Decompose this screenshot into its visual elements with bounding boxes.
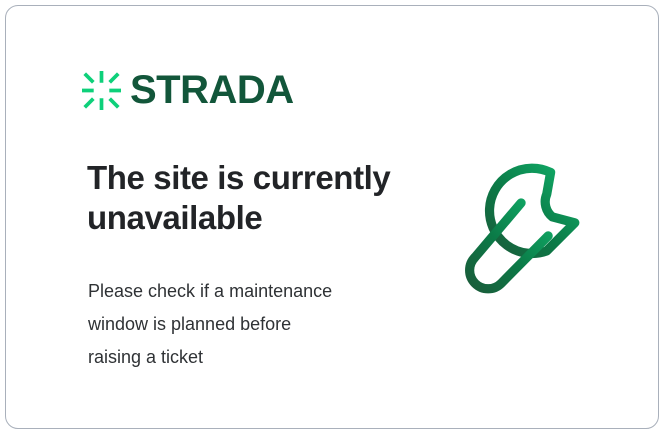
brand-wordmark: STRADA (130, 70, 294, 110)
brand-logo: STRADA (82, 70, 294, 110)
wrench-icon (461, 158, 616, 306)
description-line: window is planned before (88, 308, 398, 341)
status-card: STRADA The site is currently unavailable… (5, 5, 659, 429)
error-page: STRADA The site is currently unavailable… (0, 0, 666, 436)
description-line: raising a ticket (88, 341, 398, 374)
description-line: Please check if a maintenance (88, 275, 398, 308)
page-description: Please check if a maintenance window is … (88, 275, 398, 374)
strada-asterisk-icon (82, 71, 121, 110)
page-title: The site is currently unavailable (87, 158, 417, 238)
